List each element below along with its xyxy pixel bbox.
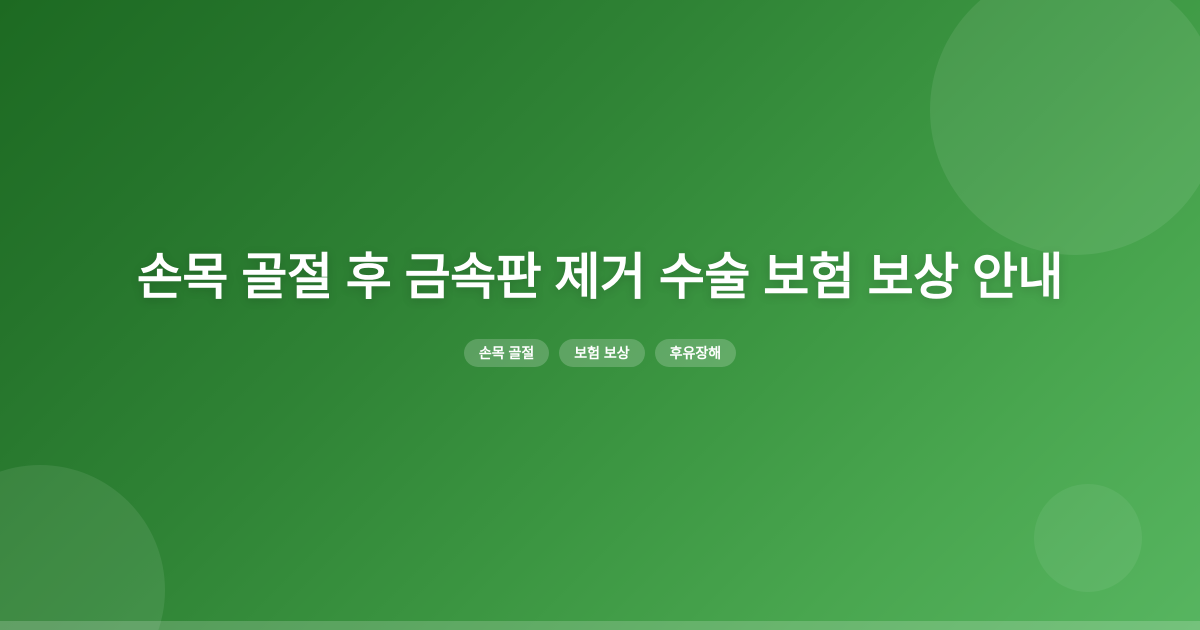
page-title: 손목 골절 후 금속판 제거 수술 보험 보상 안내 bbox=[137, 248, 1063, 307]
tag-pill-2[interactable]: 보험 보상 bbox=[559, 339, 644, 367]
card-content: 손목 골절 후 금속판 제거 수술 보험 보상 안내 손목 골절 보험 보상 후… bbox=[0, 0, 1200, 630]
tag-list: 손목 골절 보험 보상 후유장해 bbox=[464, 339, 736, 367]
tag-pill-1[interactable]: 손목 골절 bbox=[464, 339, 549, 367]
tag-pill-3[interactable]: 후유장해 bbox=[655, 339, 737, 367]
og-card: 손목 골절 후 금속판 제거 수술 보험 보상 안내 손목 골절 보험 보상 후… bbox=[0, 0, 1200, 630]
